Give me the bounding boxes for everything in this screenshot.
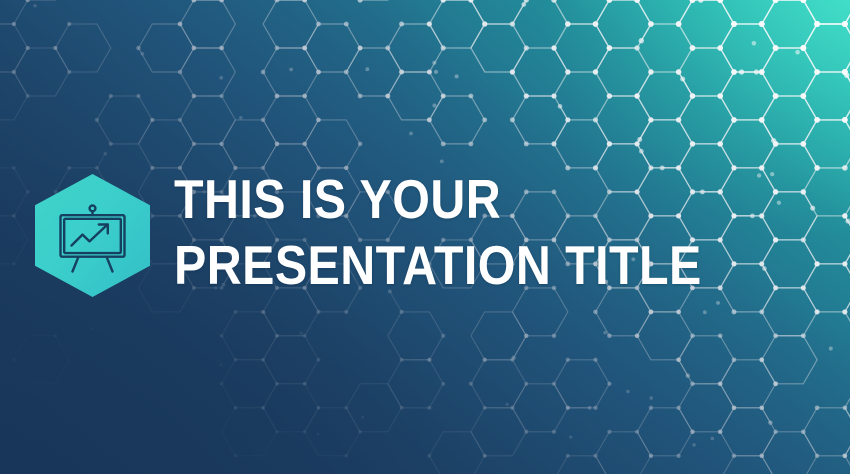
page-title-line-1: This is your [174,166,737,232]
hexagon-shape [35,174,150,297]
presentation-icon-badge [31,172,154,299]
page-title: This is your Presentation title [174,166,737,298]
presentation-title-slide: This is your Presentation title [0,0,850,474]
page-title-line-2: Presentation title [174,232,737,298]
